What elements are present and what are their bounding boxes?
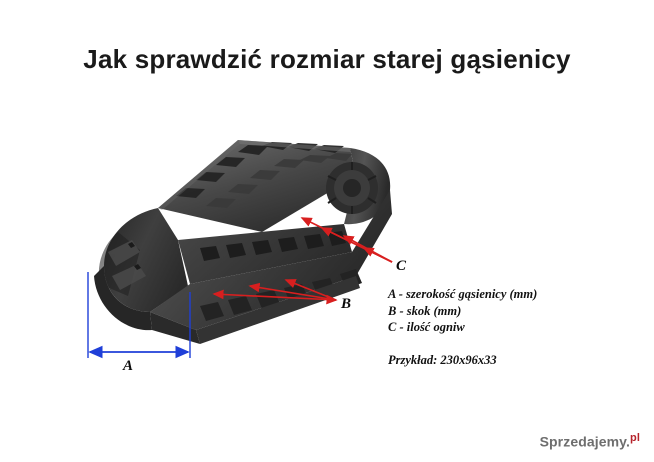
track-body xyxy=(94,140,392,352)
watermark-name: Sprzedajemy xyxy=(540,434,626,450)
legend-line-a: A - szerokość gąsienicy (mm) xyxy=(388,286,638,303)
image-canvas: Jak sprawdzić rozmiar starej gąsienicy xyxy=(0,0,654,462)
watermark: Sprzedajemy.pl xyxy=(540,432,640,450)
legend-line-c: C - ilość ogniw xyxy=(388,319,638,336)
rubber-track-illustration xyxy=(0,0,654,462)
dimension-label-a: A xyxy=(123,358,133,375)
watermark-tld: pl xyxy=(630,432,640,444)
legend-line-b: B - skok (mm) xyxy=(388,303,638,320)
dimension-label-c: C xyxy=(396,258,406,275)
legend-example: Przykład: 230x96x33 xyxy=(388,352,638,369)
legend-block: A - szerokość gąsienicy (mm) B - skok (m… xyxy=(388,286,638,368)
dimension-label-b: B xyxy=(341,296,351,313)
